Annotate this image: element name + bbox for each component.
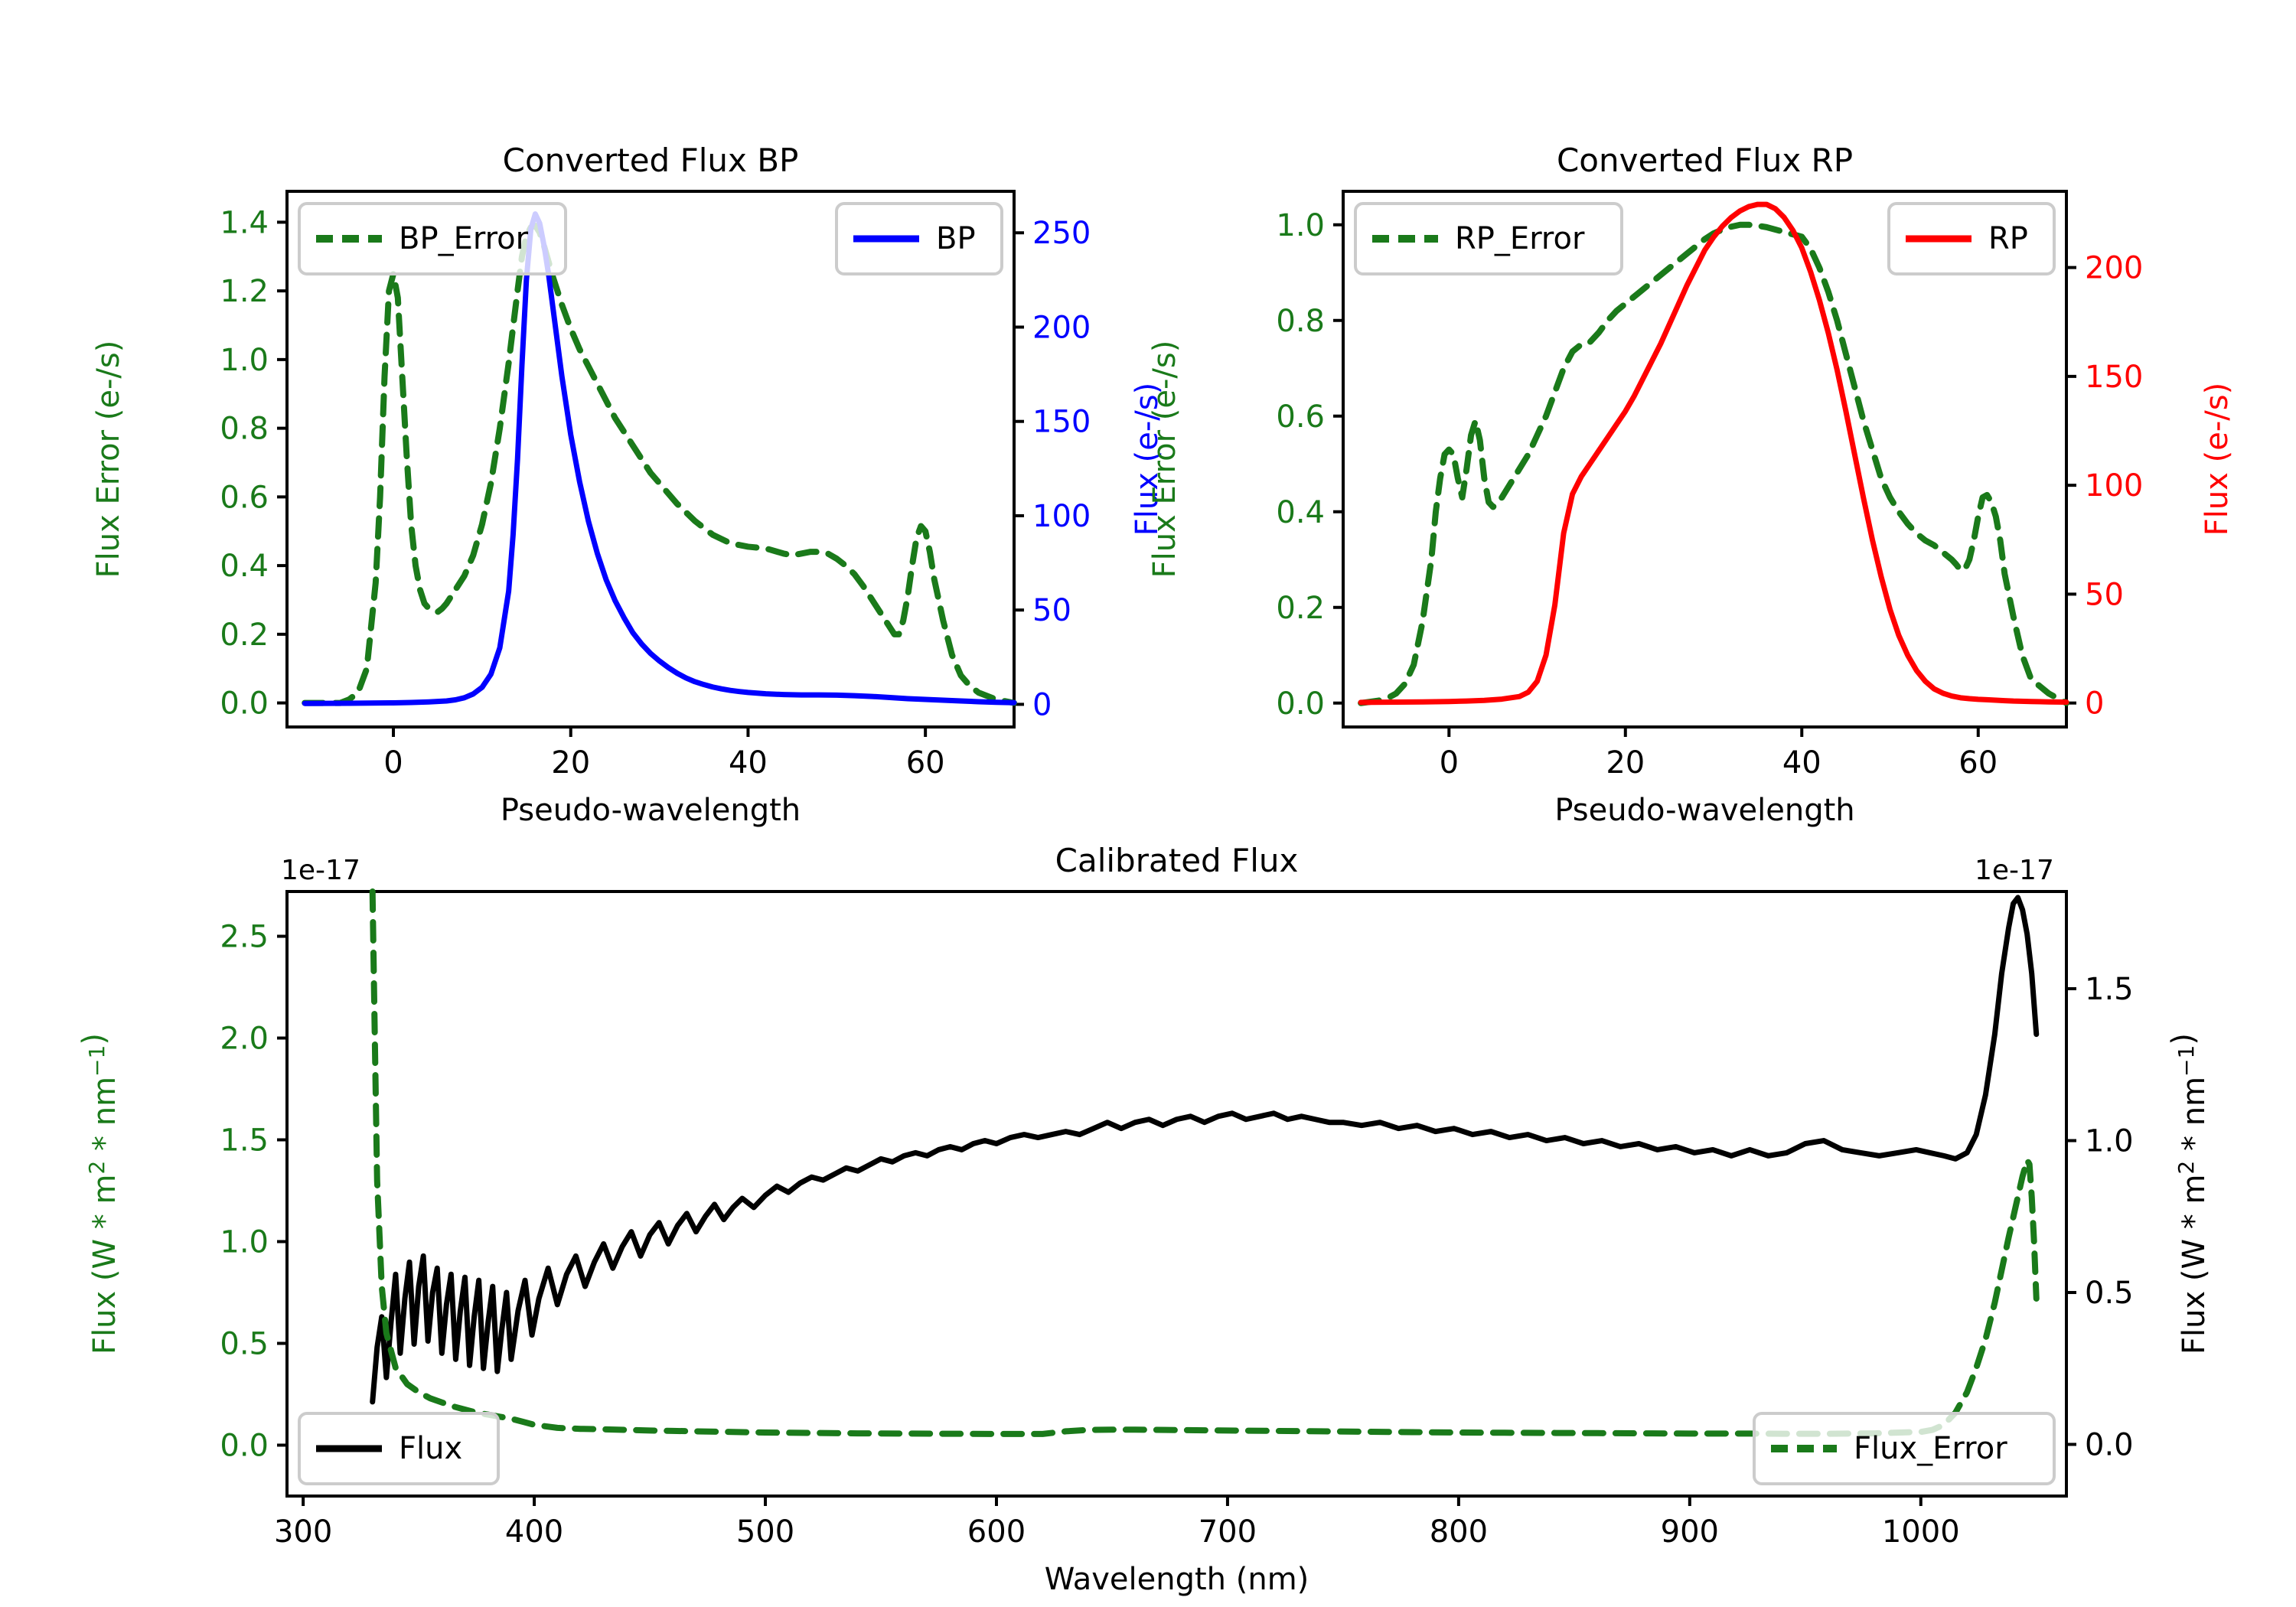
y-axis-label-left: Flux Error (e-/s)	[1147, 341, 1182, 579]
series-bp	[305, 214, 1014, 704]
y-tick-label-right: 0.5	[2085, 1276, 2134, 1311]
y-tick-label-right: 0	[1032, 687, 1052, 722]
series-flux_error	[373, 892, 2037, 1434]
y-tick-label-right: 100	[2085, 468, 2143, 504]
y-tick-label-left: 2.0	[220, 1022, 269, 1057]
legend-label: Flux	[399, 1431, 462, 1466]
y-tick-label-left: 0.5	[220, 1327, 269, 1362]
x-tick-label: 0	[383, 745, 403, 781]
x-tick-label: 600	[967, 1514, 1026, 1550]
y-tick-label-left: 0.0	[220, 1429, 269, 1464]
y-axis-left: 0.00.20.40.60.81.01.21.4	[220, 205, 287, 721]
legend-rp_error[interactable]: RP_Error	[1355, 204, 1622, 274]
y-tick-label-right: 200	[2085, 251, 2143, 286]
y-axis-right: 0.00.51.01.5	[2066, 972, 2134, 1462]
x-tick-label: 300	[274, 1514, 332, 1550]
x-tick-label: 40	[1782, 745, 1821, 781]
legend-bp[interactable]: BP	[837, 204, 1002, 274]
y-tick-label-right: 0.0	[2085, 1428, 2134, 1463]
x-axis-label: Pseudo-wavelength	[1554, 793, 1854, 828]
x-axis: 0204060	[383, 727, 944, 781]
legend-label: RP	[1988, 221, 2028, 256]
x-tick-label: 1000	[1882, 1514, 1960, 1550]
chart-title: Calibrated Flux	[1055, 842, 1299, 879]
chart-title: Converted Flux BP	[503, 142, 799, 179]
legend-rp[interactable]: RP	[1889, 204, 2054, 274]
x-tick-label: 500	[736, 1514, 794, 1550]
x-axis: 0204060	[1440, 727, 1998, 781]
y-tick-label-left: 1.0	[220, 1225, 269, 1260]
legend-bp_error[interactable]: BP_Error	[299, 204, 566, 274]
x-tick-label: 40	[729, 745, 768, 781]
chart-calibrated-flux: Calibrated Flux0.00.51.01.52.02.50.00.51…	[0, 826, 2296, 1607]
y-tick-label-left: 1.0	[1276, 208, 1325, 243]
y-axis-label-right: Flux (W * m2 * nm−1)	[2166, 1033, 2212, 1354]
chart-title: Converted Flux RP	[1557, 142, 1853, 179]
y-tick-label-left: 1.4	[220, 205, 269, 240]
x-tick-label: 60	[1958, 745, 1998, 781]
y-tick-label-left: 0.6	[220, 480, 269, 515]
y-tick-label-left: 0.2	[1276, 591, 1325, 626]
chart-converted-flux-bp: Converted Flux BP0.00.20.40.60.81.01.21.…	[0, 0, 1194, 842]
y-tick-label-left: 0.0	[1276, 686, 1325, 722]
x-tick-label: 20	[1606, 745, 1645, 781]
legend-flux_error[interactable]: Flux_Error	[1754, 1413, 2054, 1484]
y-tick-label-left: 1.2	[220, 274, 269, 309]
legend-label: Flux_Error	[1854, 1431, 2007, 1466]
y-offset-label-right: 1e-17	[1975, 855, 2054, 886]
y-tick-label-right: 0	[2085, 686, 2104, 722]
y-tick-label-left: 0.6	[1276, 399, 1325, 435]
y-axis-label-left: Flux Error (e-/s)	[91, 341, 126, 579]
y-tick-label-left: 0.8	[220, 412, 269, 447]
x-tick-label: 800	[1430, 1514, 1488, 1550]
x-tick-label: 20	[551, 745, 590, 781]
figure-canvas: Converted Flux BP0.00.20.40.60.81.01.21.…	[0, 0, 2296, 1607]
y-tick-label-right: 50	[2085, 577, 2124, 612]
y-axis-left: 0.00.51.01.52.02.5	[220, 920, 287, 1464]
y-tick-label-left: 1.0	[220, 343, 269, 378]
y-axis-label-right: Flux (e-/s)	[2200, 383, 2235, 536]
legend-label: RP_Error	[1455, 221, 1585, 256]
y-axis-label-left: Flux (W * m2 * nm−1)	[77, 1033, 122, 1354]
x-tick-label: 60	[906, 745, 945, 781]
x-axis: 3004005006007008009001000	[274, 1496, 1960, 1550]
x-tick-label: 700	[1199, 1514, 1257, 1550]
x-tick-label: 0	[1440, 745, 1459, 781]
series-bp_error	[305, 226, 1014, 703]
y-tick-label-left: 0.2	[220, 618, 269, 653]
y-tick-label-left: 0.0	[220, 686, 269, 722]
y-tick-label-left: 0.4	[220, 549, 269, 584]
plot-frame	[287, 892, 2066, 1496]
legend-label: BP	[936, 221, 976, 256]
legend-label: BP_Error	[399, 221, 529, 256]
y-axis-left: 0.00.20.40.60.81.0	[1276, 208, 1343, 722]
y-tick-label-right: 1.0	[2085, 1124, 2134, 1159]
x-axis-label: Pseudo-wavelength	[501, 793, 801, 828]
chart-converted-flux-rp: Converted Flux RP0.00.20.40.60.81.005010…	[1056, 0, 2296, 842]
series-flux	[373, 898, 2037, 1402]
x-axis-label: Wavelength (nm)	[1045, 1562, 1309, 1597]
series-rp_error	[1361, 225, 2066, 703]
x-tick-label: 900	[1661, 1514, 1719, 1550]
y-tick-label-right: 1.5	[2085, 972, 2134, 1007]
y-tick-label-left: 2.5	[220, 920, 269, 955]
y-offset-label-left: 1e-17	[281, 855, 360, 886]
y-tick-label-left: 0.8	[1276, 304, 1325, 339]
y-tick-label-left: 0.4	[1276, 495, 1325, 530]
y-axis-right: 050100150200	[2066, 251, 2143, 722]
x-tick-label: 400	[505, 1514, 563, 1550]
y-tick-label-left: 1.5	[220, 1123, 269, 1159]
y-tick-label-right: 150	[2085, 360, 2143, 395]
legend-flux[interactable]: Flux	[299, 1413, 498, 1484]
